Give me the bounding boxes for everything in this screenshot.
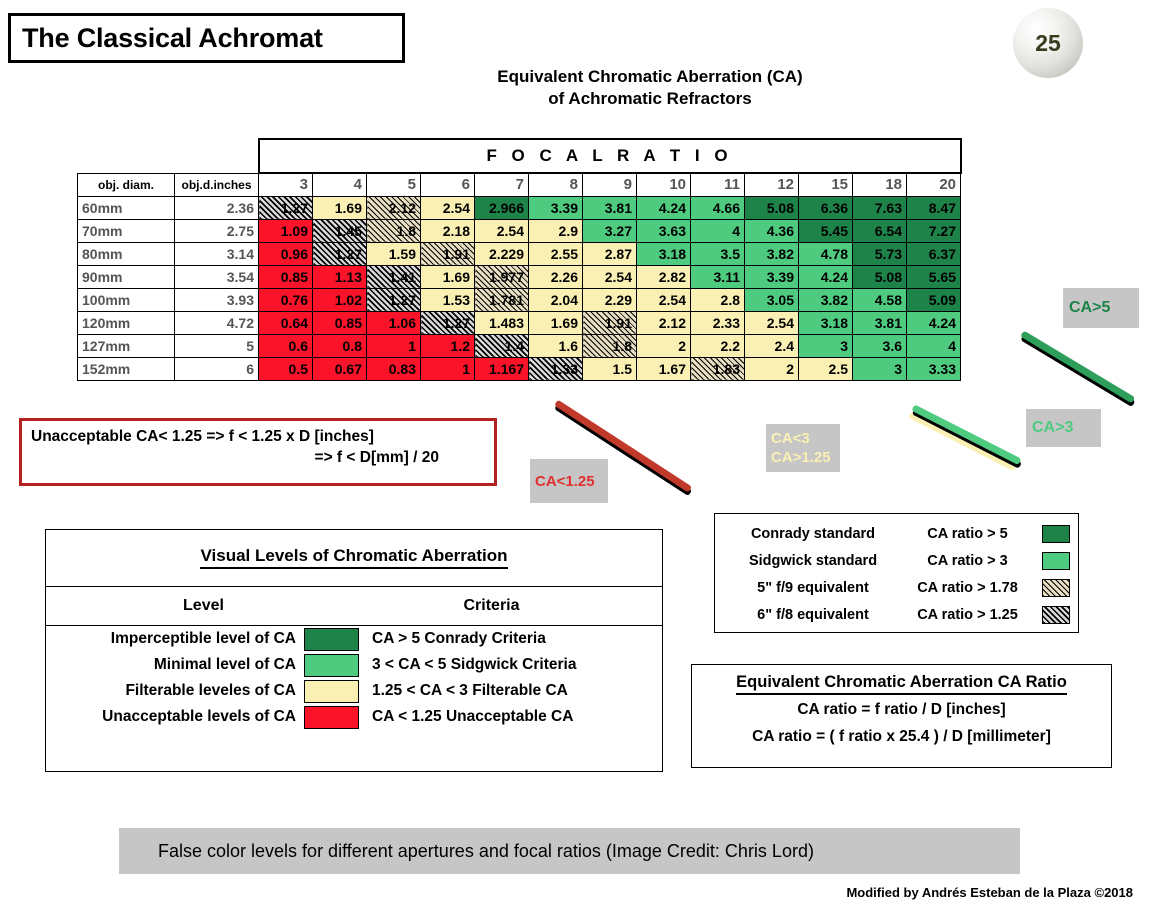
standards-name: 5" f/9 equivalent [727,580,899,596]
ca-cell: 1.781 [475,288,529,311]
ca-cell: 1.53 [421,288,475,311]
ca-cell: 5.73 [853,242,907,265]
ca-cell: 4 [907,334,961,357]
ca-cell: 1.167 [475,357,529,380]
legend-color-swatch [304,628,359,651]
obj-diam-header: obj. diam. [78,173,175,196]
ca-cell: 1.5 [583,357,637,380]
row-label-inches: 2.75 [175,219,259,242]
light-green-pointer-arrow [911,404,1021,465]
row-label-diameter: 152mm [78,357,175,380]
formula-title-text: Equivalent Chromatic Aberration CA Ratio [736,673,1067,695]
row-label-diameter: 100mm [78,288,175,311]
ca-ratio-formula-box: Equivalent Chromatic Aberration CA Ratio… [691,664,1112,768]
ca-cell: 2.229 [475,242,529,265]
standards-name: Conrady standard [727,526,899,542]
obj-inches-header: obj.d.inches [175,173,259,196]
ca-cell: 2.5 [799,357,853,380]
unacceptable-line2: => f < D[mm] / 20 [31,449,484,467]
standards-ratio: CA ratio > 5 [899,526,1036,542]
focal-ratio-header-18: 18 [853,173,907,196]
ca-cell: 4.24 [637,196,691,219]
ca-cell: 2.82 [637,265,691,288]
footer-credit: Modified by Andrés Esteban de la Plaza ©… [0,885,1133,900]
legend-level-label: Minimal level of CA [46,656,304,674]
slide-title-box: The Classical Achromat [8,13,405,63]
ca-cell: 3.11 [691,265,745,288]
ca-cell: 1.13 [313,265,367,288]
dark-green-pointer-arrow [1020,330,1135,403]
table-row: 127mm50.60.811.21.41.61.822.22.433.64 [78,334,961,357]
legend-color-swatch [304,680,359,703]
ca-cell: 4.66 [691,196,745,219]
standards-ratio: CA ratio > 1.25 [899,607,1036,623]
legend-color-swatch [304,706,359,729]
callout-ca-lt-3: CA<3 CA>1.25 [766,424,840,472]
row-label-diameter: 80mm [78,242,175,265]
standards-name: 6" f/8 equivalent [727,607,899,623]
ca-cell: 4.58 [853,288,907,311]
row-label-inches: 3.54 [175,265,259,288]
ca-cell: 1.69 [529,311,583,334]
ca-cell: 5.45 [799,219,853,242]
ca-cell: 8.47 [907,196,961,219]
ca-cell: 2.8 [691,288,745,311]
table-row: 60mm2.361.271.692.122.542.9663.393.814.2… [78,196,961,219]
focal-ratio-header-10: 10 [637,173,691,196]
focal-ratio-header-12: 12 [745,173,799,196]
legend-title-text: Visual Levels of Chromatic Aberration [200,546,507,569]
ca-cell: 2.4 [745,334,799,357]
focal-ratio-header-20: 20 [907,173,961,196]
row-label-diameter: 90mm [78,265,175,288]
focal-ratio-header-11: 11 [691,173,745,196]
row-label-inches: 3.93 [175,288,259,311]
ca-cell: 2.26 [529,265,583,288]
unacceptable-line1: Unacceptable CA< 1.25 => f < 1.25 x D [i… [31,428,484,446]
ca-cell: 1 [367,334,421,357]
ca-cell: 3.81 [853,311,907,334]
ca-cell: 1.483 [475,311,529,334]
focal-ratio-header-5: 5 [367,173,421,196]
ca-cell: 2.54 [745,311,799,334]
focal-ratio-header-3: 3 [259,173,313,196]
ca-cell: 2 [745,357,799,380]
ca-cell: 2.18 [421,219,475,242]
table-row: 80mm3.140.961.271.591.912.2292.552.873.1… [78,242,961,265]
ca-cell: 3.39 [745,265,799,288]
ca-cell: 0.64 [259,311,313,334]
ca-cell: 1.977 [475,265,529,288]
focal-ratio-band-row: F O C A L R A T I O [78,139,961,173]
ca-cell: 2.04 [529,288,583,311]
ca-cell: 3.33 [907,357,961,380]
ca-cell: 3.27 [583,219,637,242]
ca-cell: 4 [691,219,745,242]
formula-line1: CA ratio = f ratio / D [inches] [692,701,1111,719]
standards-row: 5" f/9 equivalentCA ratio > 1.78 [715,574,1078,601]
row-label-inches: 2.36 [175,196,259,219]
table-row: 100mm3.930.761.021.271.531.7812.042.292.… [78,288,961,311]
ca-cell: 0.6 [259,334,313,357]
ca-cell: 2.966 [475,196,529,219]
ca-cell: 3.81 [583,196,637,219]
legend-row: Unacceptable levels of CACA < 1.25 Unacc… [46,704,662,730]
page-title: The Classical Achromat [11,23,323,54]
ca-cell: 1.67 [637,357,691,380]
ca-cell: 2.12 [637,311,691,334]
ca-cell: 2.9 [529,219,583,242]
ca-cell: 2.54 [421,196,475,219]
ca-cell: 5.65 [907,265,961,288]
ca-cell: 5.09 [907,288,961,311]
ca-cell: 1.83 [691,357,745,380]
ca-cell: 5.08 [745,196,799,219]
ca-cell: 1.33 [529,357,583,380]
standards-row: Sidgwick standardCA ratio > 3 [715,547,1078,574]
band-spacer [78,139,259,173]
ca-cell: 3.18 [799,311,853,334]
ca-cell: 3.82 [799,288,853,311]
ca-cell: 5.08 [853,265,907,288]
ca-cell: 1.4 [475,334,529,357]
legend-col-level: Level [46,597,361,615]
ca-cell: 0.76 [259,288,313,311]
legend-level-label: Unacceptable levels of CA [46,708,304,726]
focal-ratio-header-15: 15 [799,173,853,196]
ca-cell: 4.36 [745,219,799,242]
ca-cell: 1 [421,357,475,380]
legend-color-swatch [304,654,359,677]
visual-levels-legend: Visual Levels of Chromatic Aberration Le… [45,529,663,772]
callout-ca-lt-125: CA<1.25 [530,459,608,503]
callout-ca-lt-3-line1: CA<3 [771,429,810,448]
standards-name: Sidgwick standard [727,553,899,569]
legend-criteria-label: CA > 5 Conrady Criteria [359,630,662,648]
ca-cell: 6.37 [907,242,961,265]
legend-column-headers: Level Criteria [46,587,662,625]
row-label-diameter: 70mm [78,219,175,242]
row-label-inches: 6 [175,357,259,380]
caption-text: False color levels for different apertur… [119,841,814,862]
ca-cell: 2.55 [529,242,583,265]
ca-cell: 1.8 [367,219,421,242]
caption-bar: False color levels for different apertur… [119,828,1020,874]
ca-cell: 2.33 [691,311,745,334]
standards-legend: Conrady standardCA ratio > 5Sidgwick sta… [714,513,1079,633]
ca-cell: 1.91 [421,242,475,265]
ca-cell: 1.06 [367,311,421,334]
ca-cell: 2.54 [583,265,637,288]
callout-ca-gt-5-label: CA>5 [1069,299,1110,317]
ca-cell: 4.24 [799,265,853,288]
ca-cell: 2.87 [583,242,637,265]
focal-ratio-header-8: 8 [529,173,583,196]
ca-cell: 1.41 [367,265,421,288]
standards-row: Conrady standardCA ratio > 5 [715,520,1078,547]
row-label-diameter: 60mm [78,196,175,219]
table-row: 70mm2.751.091.451.82.182.542.93.273.6344… [78,219,961,242]
focal-ratio-band-label: F O C A L R A T I O [259,139,961,173]
row-label-inches: 3.14 [175,242,259,265]
ca-cell: 3 [799,334,853,357]
formula-title: Equivalent Chromatic Aberration CA Ratio [692,673,1111,692]
ca-cell: 1.2 [421,334,475,357]
ca-cell: 4.24 [907,311,961,334]
standards-color-swatch [1042,525,1070,543]
ca-cell: 0.5 [259,357,313,380]
ca-cell: 7.63 [853,196,907,219]
ca-cell: 1.27 [313,242,367,265]
table-row: 152mm60.50.670.8311.1671.331.51.671.8322… [78,357,961,380]
slide-number: 25 [1035,30,1061,57]
callout-ca-lt-3-line2: CA>1.25 [771,448,831,467]
ca-cell: 3.18 [637,242,691,265]
ca-cell: 1.45 [313,219,367,242]
matrix-header-row: obj. diam.obj.d.inches345678910111215182… [78,173,961,196]
ca-cell: 3 [853,357,907,380]
ca-cell: 2.12 [367,196,421,219]
row-label-diameter: 120mm [78,311,175,334]
legend-rows: Imperceptible level of CACA > 5 Conrady … [46,625,662,730]
callout-ca-gt-5: CA>5 [1063,288,1139,328]
ca-cell: 2.54 [637,288,691,311]
legend-criteria-label: 1.25 < CA < 3 Filterable CA [359,682,662,700]
ca-cell: 6.54 [853,219,907,242]
table-row: 120mm4.720.640.851.061.271.4831.691.912.… [78,311,961,334]
ca-cell: 1.6 [529,334,583,357]
ca-cell: 1.69 [421,265,475,288]
ca-cell: 7.27 [907,219,961,242]
table-row: 90mm3.540.851.131.411.691.9772.262.542.8… [78,265,961,288]
row-label-diameter: 127mm [78,334,175,357]
legend-criteria-label: CA < 1.25 Unacceptable CA [359,708,662,726]
ca-cell: 0.85 [259,265,313,288]
legend-criteria-label: 3 < CA < 5 Sidgwick Criteria [359,656,662,674]
legend-col-criteria: Criteria [361,597,662,615]
ca-cell: 3.6 [853,334,907,357]
focal-ratio-header-6: 6 [421,173,475,196]
focal-ratio-header-4: 4 [313,173,367,196]
callout-ca-lt-125-label: CA<1.25 [535,473,595,490]
ca-cell: 1.27 [259,196,313,219]
focal-ratio-header-9: 9 [583,173,637,196]
ca-cell: 0.83 [367,357,421,380]
ca-cell: 1.27 [367,288,421,311]
cream-pointer-arrow [908,411,1016,471]
ca-cell: 2 [637,334,691,357]
ca-cell: 6.36 [799,196,853,219]
ca-cell: 2.29 [583,288,637,311]
ca-cell: 0.96 [259,242,313,265]
ca-cell: 3.5 [691,242,745,265]
row-label-inches: 5 [175,334,259,357]
standards-row: 6" f/8 equivalentCA ratio > 1.25 [715,601,1078,628]
legend-title: Visual Levels of Chromatic Aberration [46,530,662,570]
ca-cell: 3.39 [529,196,583,219]
legend-row: Minimal level of CA3 < CA < 5 Sidgwick C… [46,652,662,678]
ca-cell: 0.85 [313,311,367,334]
legend-row: Imperceptible level of CACA > 5 Conrady … [46,626,662,652]
ca-cell: 4.78 [799,242,853,265]
standards-ratio: CA ratio > 3 [899,553,1036,569]
ca-ratio-matrix: F O C A L R A T I Oobj. diam.obj.d.inche… [77,138,962,381]
standards-color-swatch [1042,606,1070,624]
ca-cell: 3.82 [745,242,799,265]
chart-heading-line1: Equivalent Chromatic Aberration (CA) [420,66,880,88]
ca-cell: 1.59 [367,242,421,265]
ca-cell: 3.05 [745,288,799,311]
standards-color-swatch [1042,579,1070,597]
legend-level-label: Filterable leveles of CA [46,682,304,700]
ca-cell: 2.54 [475,219,529,242]
ca-cell: 0.8 [313,334,367,357]
row-label-inches: 4.72 [175,311,259,334]
legend-level-label: Imperceptible level of CA [46,630,304,648]
ca-cell: 1.27 [421,311,475,334]
callout-ca-gt-3: CA>3 [1026,409,1101,447]
standards-color-swatch [1042,552,1070,570]
chart-heading: Equivalent Chromatic Aberration (CA) of … [420,66,880,110]
callout-ca-gt-3-label: CA>3 [1032,419,1073,437]
standards-ratio: CA ratio > 1.78 [899,580,1036,596]
ca-cell: 0.67 [313,357,367,380]
ca-cell: 2.2 [691,334,745,357]
formula-line2: CA ratio = ( f ratio x 25.4 ) / D [milli… [692,728,1111,746]
ca-cell: 1.91 [583,311,637,334]
ca-cell: 1.09 [259,219,313,242]
ca-cell: 3.63 [637,219,691,242]
chart-heading-line2: of Achromatic Refractors [420,88,880,110]
ca-cell: 1.69 [313,196,367,219]
ca-cell: 1.02 [313,288,367,311]
legend-row: Filterable leveles of CA1.25 < CA < 3 Fi… [46,678,662,704]
unacceptable-criteria-box: Unacceptable CA< 1.25 => f < 1.25 x D [i… [19,418,497,486]
focal-ratio-header-7: 7 [475,173,529,196]
ca-cell: 1.8 [583,334,637,357]
slide-number-badge: 25 [1013,8,1083,78]
